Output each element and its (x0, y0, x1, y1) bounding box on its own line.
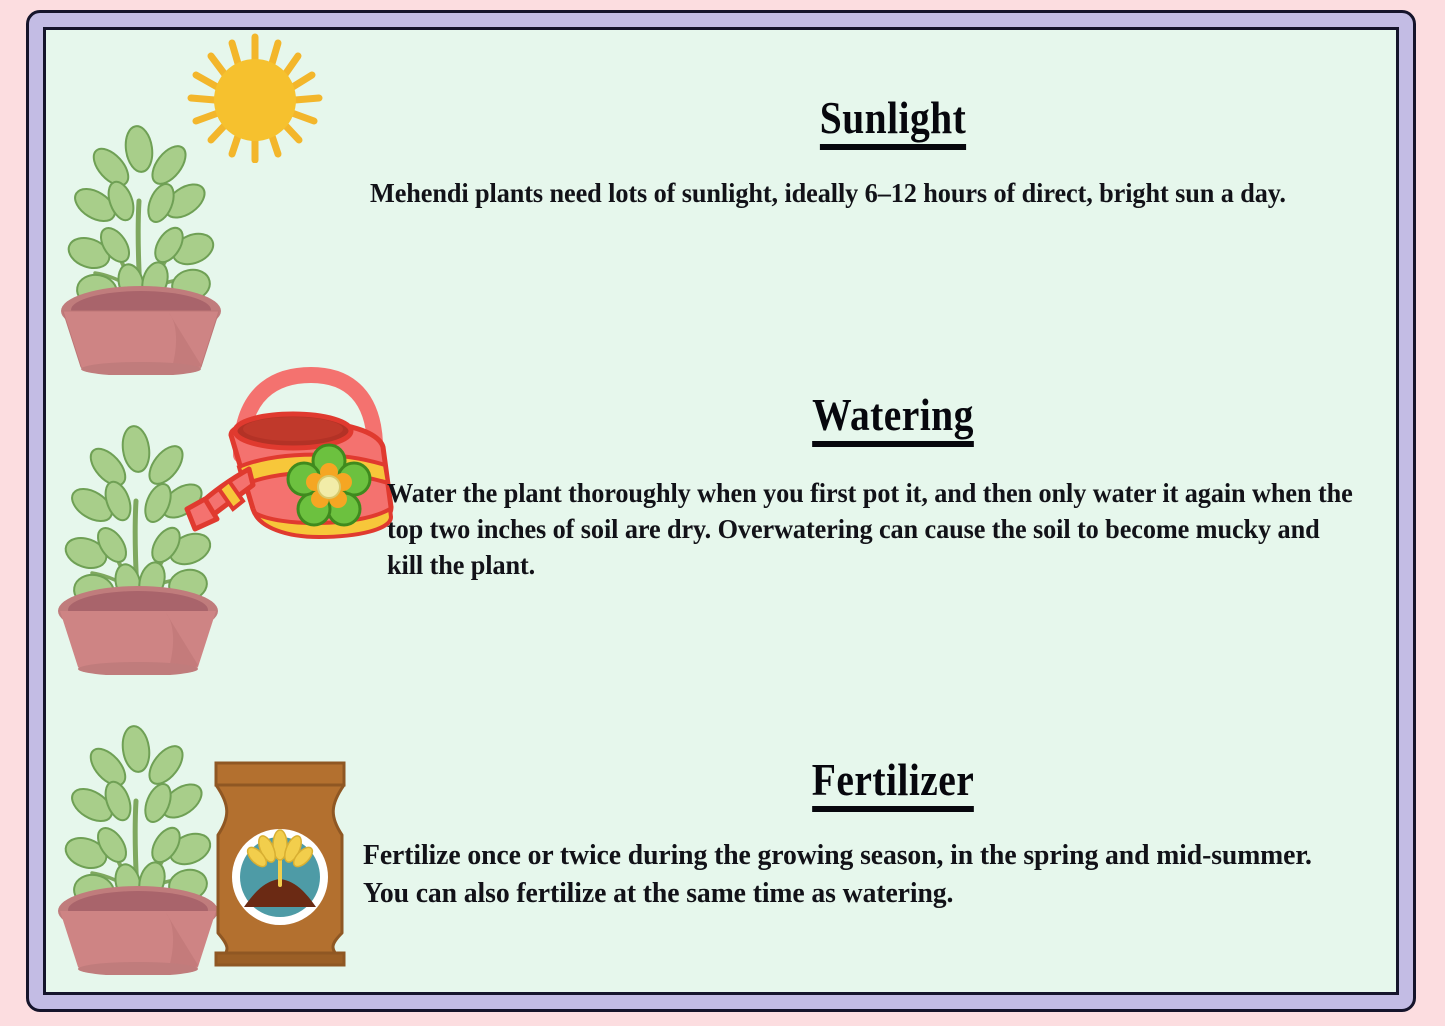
poster-root: Sunlight Mehendi plants need lots of sun… (0, 0, 1445, 1026)
potted-plant-illustration (51, 105, 231, 375)
heading-text: Fertilizer (812, 757, 974, 812)
section-heading-watering: Watering (712, 392, 1073, 447)
heading-text: Watering (812, 392, 974, 447)
watering-can-icon (183, 357, 413, 557)
section-heading-fertilizer: Fertilizer (712, 757, 1073, 812)
section-heading-sunlight: Sunlight (712, 95, 1073, 150)
heading-text: Sunlight (820, 95, 966, 150)
fertilizer-bag-icon (200, 755, 360, 970)
content-stage: Sunlight Mehendi plants need lots of sun… (43, 27, 1399, 995)
section-body-watering: Water the plant thoroughly when you firs… (387, 475, 1359, 582)
section-body-fertilizer: Fertilize once or twice during the growi… (363, 837, 1356, 912)
section-body-sunlight: Mehendi plants need lots of sunlight, id… (370, 175, 1354, 211)
